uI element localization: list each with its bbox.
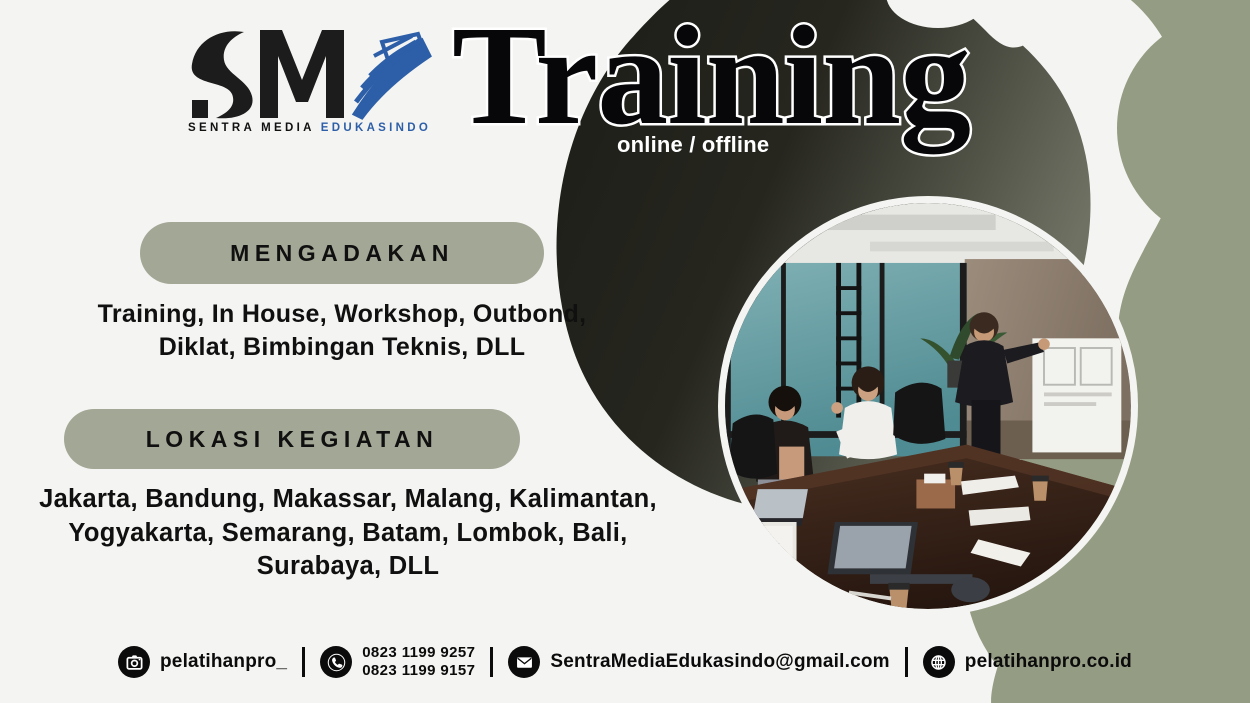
sage-circle-right [1117,13,1250,243]
email-address: SentraMediaEdukasindo@gmail.com [550,651,889,673]
headline-subtitle: online / offline [617,132,769,158]
brand-logo: SENTRA MEDIA EDUKASINDO [186,22,436,148]
page-title: Training [452,8,992,143]
section-body-lokasi-kegiatan: Jakarta, Bandung, Makassar, Malang, Kali… [16,483,680,584]
headline-block: Training online / offline [452,8,992,143]
envelope-icon[interactable] [508,646,540,678]
contact-website[interactable]: pelatihanpro.co.id [923,646,1132,678]
logo-svg [186,22,436,122]
contact-instagram[interactable]: pelatihanpro_ [118,646,287,678]
instagram-icon[interactable] [118,646,150,678]
phone-glyph [327,653,346,672]
phone-icon[interactable] [320,646,352,678]
contact-divider-2 [490,647,493,677]
globe-glyph [929,653,948,672]
contact-email[interactable]: SentraMediaEdukasindo@gmail.com [508,646,889,678]
sme-logo-mark [186,22,436,122]
website-url: pelatihanpro.co.id [965,651,1132,673]
section-pill-mengadakan: MENGADAKAN [140,222,544,284]
meeting-room-photo [718,196,1138,616]
logo-tagline-primary: SENTRA MEDIA [188,122,314,134]
contact-bar: pelatihanpro_ 0823 1199 9257 0823 1199 9… [0,640,1250,684]
contact-phone[interactable]: 0823 1199 9257 0823 1199 9157 [320,644,475,679]
photo-illustration [725,203,1131,609]
instagram-handle: pelatihanpro_ [160,651,287,673]
logo-tagline-secondary: EDUKASINDO [321,122,431,134]
globe-icon[interactable] [923,646,955,678]
photo-inner [725,203,1131,609]
contact-divider-3 [905,647,908,677]
envelope-glyph [515,653,534,672]
contact-divider-1 [302,647,305,677]
logo-letter-m [260,30,344,118]
logo-book-icon [354,34,430,118]
phone-number-2: 0823 1199 9157 [362,662,475,679]
logo-tagline: SENTRA MEDIA EDUKASINDO [188,122,434,134]
instagram-glyph [125,653,144,672]
section-pill-lokasi-kegiatan: LOKASI KEGIATAN [64,409,520,469]
phone-numbers: 0823 1199 9257 0823 1199 9157 [362,644,475,679]
promotional-poster: SENTRA MEDIA EDUKASINDO Training online … [0,0,1250,703]
phone-number-1: 0823 1199 9257 [362,644,475,661]
section-body-mengadakan: Training, In House, Workshop, Outbond, D… [62,298,622,365]
